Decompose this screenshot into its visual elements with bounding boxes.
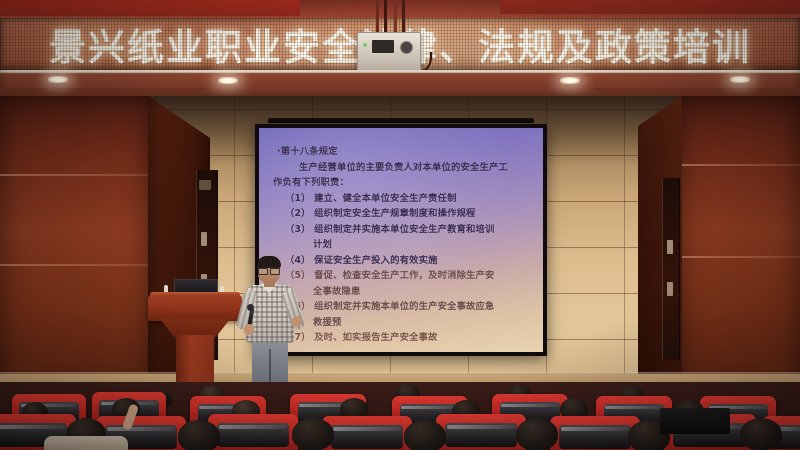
slide-item-num: （2） [285, 208, 311, 219]
audience-head [178, 420, 220, 450]
slide-item: （6） 组织制定并实施本单位的生产安全事故应急 [285, 299, 533, 315]
audience-seat[interactable] [322, 416, 412, 450]
ceiling-panel-right [500, 0, 800, 14]
wood-wall-left [0, 96, 150, 396]
slide-item: （7） 及时、如实报告生产安全事故 [285, 330, 533, 346]
slide-item: （1） 建立、健全本单位安全生产责任制 [285, 191, 533, 207]
slide-heading: ·第十八条规定 [277, 144, 533, 160]
av-equipment-box [660, 408, 730, 434]
slide-item-text: 组织制定并实施本单位安全生产教育和培训 [314, 224, 494, 235]
podium-top [148, 295, 242, 321]
projector-power-led [363, 43, 367, 47]
slide-item-num: （1） [285, 193, 311, 204]
slide-item-text: 保证安全生产投入的有效实施 [314, 255, 437, 266]
glasses-icon [258, 267, 280, 273]
slide-lead-line-1: 生产经营单位的主要负责人对本单位的安全生产工 [273, 160, 533, 176]
spotlight [730, 76, 750, 83]
screen-roller [268, 118, 534, 123]
slide-item: （4） 保证安全生产投入的有效实施 [285, 253, 533, 269]
presenter-legs [252, 341, 288, 387]
podium-column [176, 335, 214, 389]
auditorium-scene: 景兴纸业职业安全法律、法规及政策培训 [0, 0, 800, 450]
ceiling-panel-left [0, 0, 300, 16]
door-handle-icon[interactable] [667, 240, 673, 254]
door-handle-icon[interactable] [201, 232, 207, 246]
projector-cables [372, 0, 412, 34]
spotlight [48, 76, 68, 83]
presenter [238, 258, 302, 388]
presenter-hand [244, 324, 254, 335]
door-handle-icon[interactable] [667, 282, 673, 296]
wood-wall-right [680, 96, 800, 396]
slide-item-text: 及时、如实报告生产安全事故 [314, 332, 437, 343]
audience-head [740, 418, 782, 450]
audience-seat[interactable] [436, 414, 526, 450]
slide-item: （3） 组织制定并实施本单位安全生产教育和培训 [285, 222, 533, 238]
presenter-hand [292, 316, 302, 327]
slide-item: （2） 组织制定安全生产规章制度和操作规程 [285, 206, 533, 222]
audience-seat[interactable] [550, 416, 640, 450]
spotlight [560, 77, 580, 84]
door-sign [199, 180, 211, 190]
spotlight [218, 77, 238, 84]
slide-item-text: 建立、健全本单位安全生产责任制 [314, 193, 456, 204]
slide-item-num: （3） [285, 224, 311, 235]
speaking-podium [148, 295, 242, 387]
slide-item-continuation: 全事故隐患 [313, 284, 533, 300]
side-door-right[interactable] [662, 178, 680, 360]
audience-head [404, 420, 446, 450]
slide-lead-text-1: 生产经营单位的主要负责人对本单位的安全生产工 [299, 162, 508, 173]
slide-item-continuation: 救援预 [313, 315, 533, 331]
audience-head [292, 418, 334, 450]
slide-lead-line-2: 作负有下列职责： [273, 175, 533, 191]
microphone-head-icon [247, 304, 254, 311]
slide-item-text: 督促、检查安全生产工作，及时消除生产安 [314, 270, 494, 281]
slide-item-continuation: 计划 [313, 237, 533, 253]
audience-shoulders [44, 436, 128, 450]
slide-item: （5） 督促、检查安全生产工作，及时消除生产安 [285, 268, 533, 284]
slide-item-text: 组织制定并实施本单位的生产安全事故应急 [314, 301, 494, 312]
audience-head [516, 418, 558, 450]
slide-item-text: 组织制定安全生产规章制度和操作规程 [314, 208, 475, 219]
audience-seat[interactable] [208, 414, 298, 450]
